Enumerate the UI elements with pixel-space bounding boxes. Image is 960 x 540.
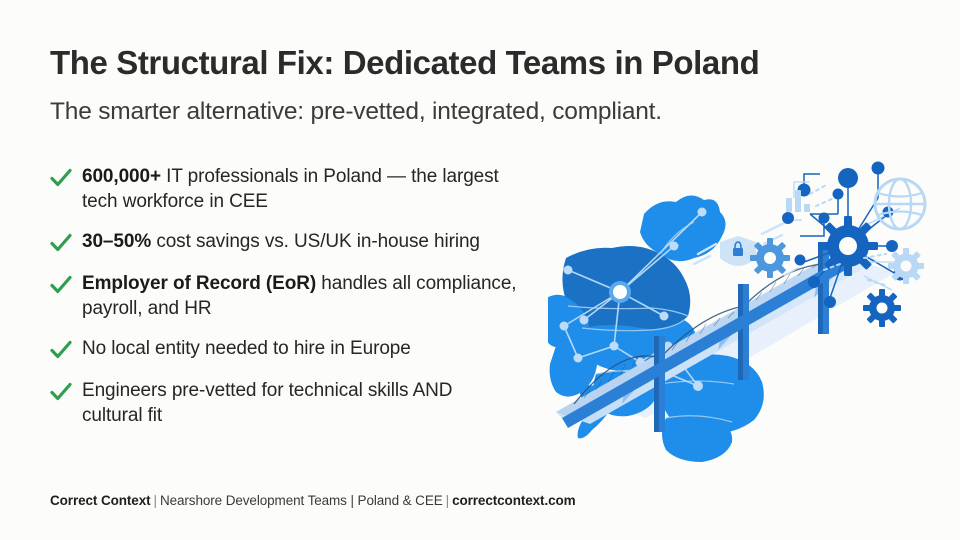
list-item: Engineers pre-vetted for technical skill… xyxy=(48,378,518,428)
slide-canvas: The Structural Fix: Dedicated Teams in P… xyxy=(0,0,960,540)
list-item-text: Employer of Record (EoR) handles all com… xyxy=(82,271,518,321)
benefits-list: 600,000+ IT professionals in Poland — th… xyxy=(48,164,518,443)
globe-icon xyxy=(875,179,925,229)
check-icon xyxy=(48,379,74,405)
check-icon xyxy=(48,165,74,191)
page-subtitle: The smarter alternative: pre-vetted, int… xyxy=(50,98,662,126)
footer-website[interactable]: correctcontext.com xyxy=(452,493,576,508)
list-item: 600,000+ IT professionals in Poland — th… xyxy=(48,164,518,214)
footer-brand: Correct Context xyxy=(50,493,151,508)
gear-icon-small-left xyxy=(750,238,790,278)
check-icon xyxy=(48,230,74,256)
gear-hub-icon xyxy=(818,216,878,276)
list-item-text: No local entity needed to hire in Europe xyxy=(82,336,411,361)
list-item-body: cost savings vs. US/UK in-house hiring xyxy=(151,231,480,252)
gear-icon-bottom xyxy=(863,289,901,327)
list-item-highlight: 30–50% xyxy=(82,231,151,252)
list-item: No local entity needed to hire in Europe xyxy=(48,336,518,363)
footer-separator-1: | xyxy=(151,493,160,508)
list-item-body: Engineers pre-vetted for technical skill… xyxy=(82,380,452,426)
list-item-text: Engineers pre-vetted for technical skill… xyxy=(82,378,518,428)
gear-icon-small-right xyxy=(888,248,924,284)
footer: Correct Context|Nearshore Development Te… xyxy=(50,493,576,508)
list-item-body: No local entity needed to hire in Europe xyxy=(82,338,411,359)
page-title: The Structural Fix: Dedicated Teams in P… xyxy=(50,44,759,82)
poland-hub-node xyxy=(609,281,631,303)
shield-lock-icon xyxy=(720,236,756,266)
cee-map-bridge-tech-illustration xyxy=(548,150,960,470)
list-item-highlight: Employer of Record (EoR) xyxy=(82,273,316,294)
check-icon xyxy=(48,337,74,363)
footer-tagline: Nearshore Development Teams | Poland & C… xyxy=(160,493,443,508)
list-item: Employer of Record (EoR) handles all com… xyxy=(48,271,518,321)
list-item: 30–50% cost savings vs. US/UK in-house h… xyxy=(48,229,518,256)
list-item-highlight: 600,000+ xyxy=(82,166,161,187)
list-item-text: 30–50% cost savings vs. US/UK in-house h… xyxy=(82,229,480,254)
check-icon xyxy=(48,272,74,298)
list-item-text: 600,000+ IT professionals in Poland — th… xyxy=(82,164,518,214)
footer-separator-2: | xyxy=(443,493,452,508)
